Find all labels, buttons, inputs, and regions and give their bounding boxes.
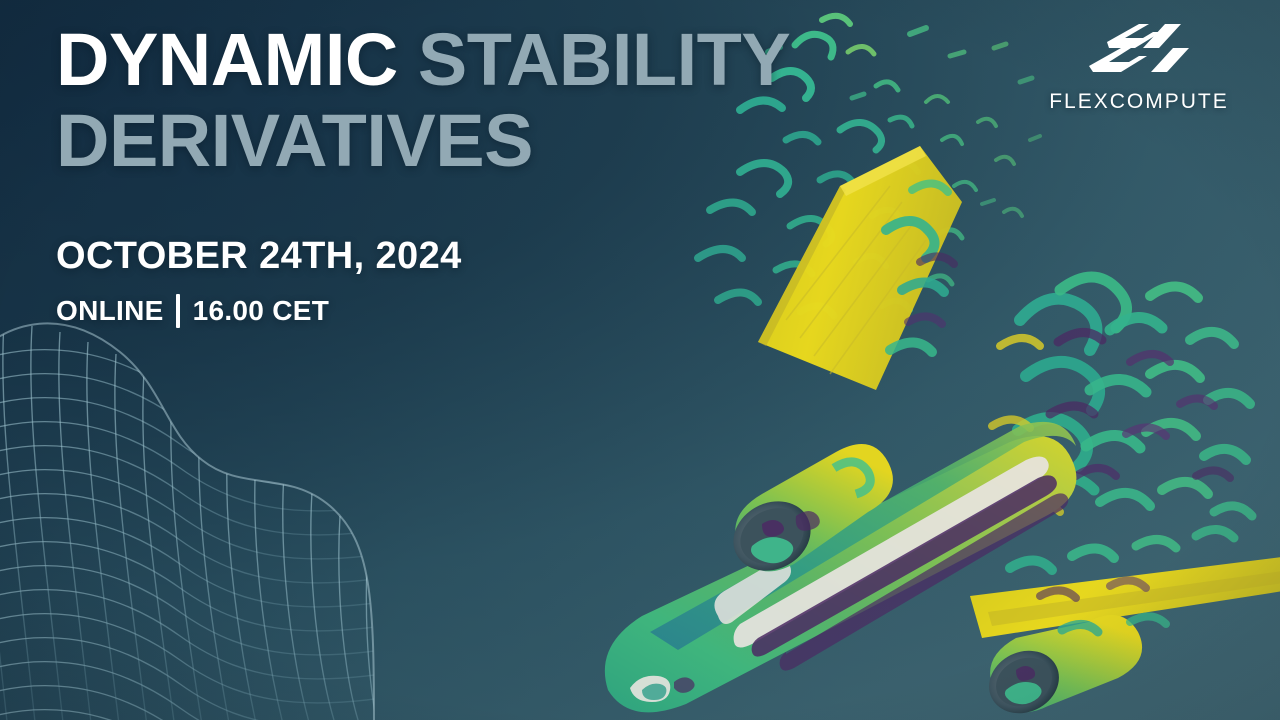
brand-logo[interactable]: FLEXCOMPUTE	[1034, 22, 1244, 114]
page-title: DYNAMIC STABILITY DERIVATIVES	[56, 24, 956, 177]
event-format-label: ONLINE	[56, 295, 164, 327]
event-format-and-time: ONLINE 16.00 CET	[56, 278, 956, 328]
flexcompute-logo-mark-icon	[1034, 22, 1244, 84]
flexcompute-wordmark: FLEXCOMPUTE	[1034, 90, 1244, 114]
event-date: OCTOBER 24TH, 2024	[56, 177, 956, 278]
event-time-label: 16.00 CET	[193, 295, 330, 327]
pipe-separator-icon	[176, 294, 180, 328]
webinar-promo-banner: DYNAMIC STABILITY DERIVATIVES OCTOBER 24…	[0, 0, 1280, 720]
headline-word-stability: STABILITY	[418, 18, 790, 101]
headline-line-1: DYNAMIC STABILITY	[56, 24, 956, 97]
banner-copy: DYNAMIC STABILITY DERIVATIVES OCTOBER 24…	[56, 24, 956, 328]
headline-word-dynamic: DYNAMIC	[56, 18, 398, 101]
headline-line-2: DERIVATIVES	[56, 105, 956, 178]
